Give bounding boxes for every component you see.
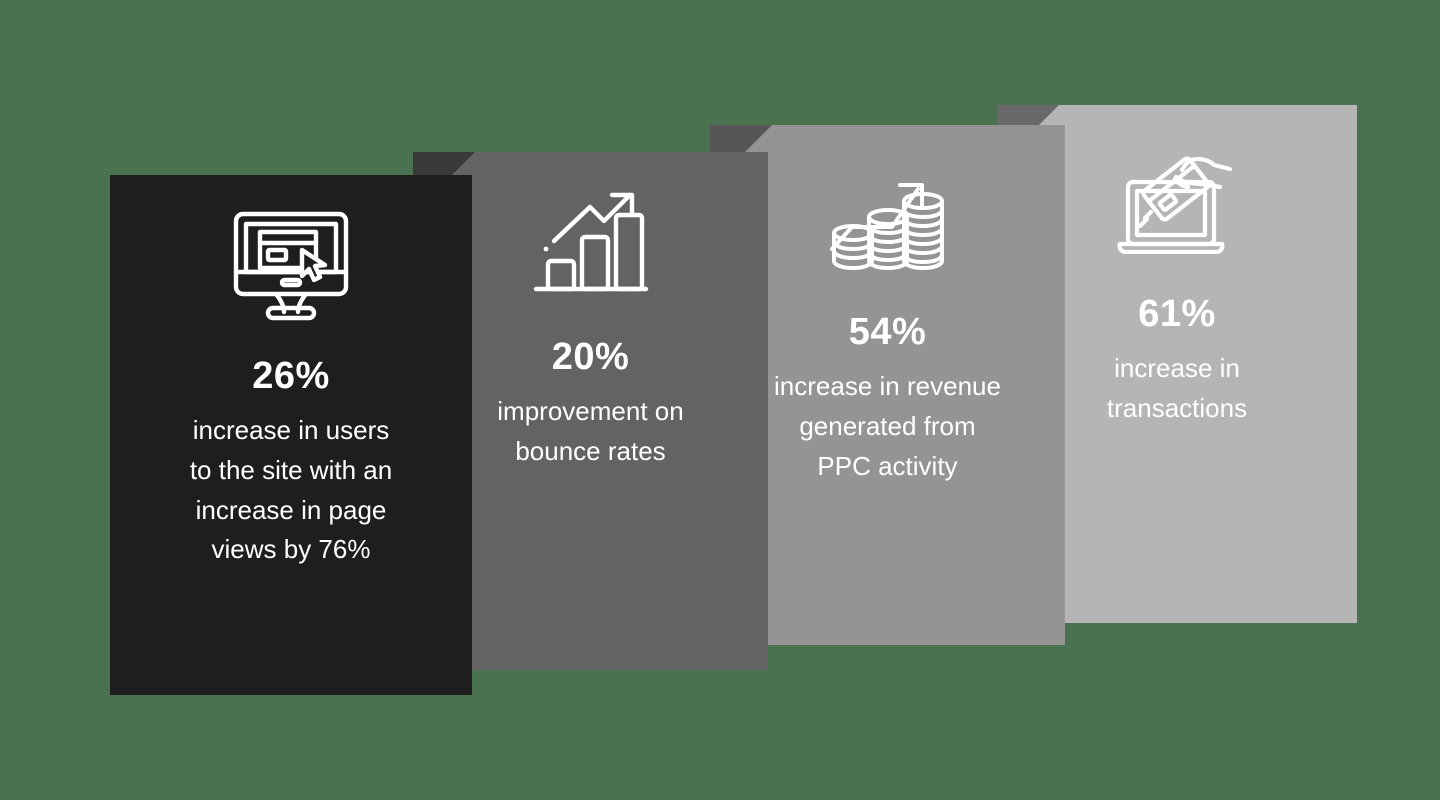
stat-value: 61% bbox=[1138, 295, 1216, 333]
stat-value: 20% bbox=[552, 338, 630, 376]
stat-description: increase in transactions bbox=[1089, 349, 1265, 429]
infographic-stats-panel: 61% increase in transactions bbox=[0, 0, 1440, 800]
stat-description: increase in users to the site with an in… bbox=[172, 411, 410, 570]
stat-value: 26% bbox=[252, 357, 330, 395]
stat-card-users[interactable]: 26% increase in users to the site with a… bbox=[110, 175, 472, 695]
stat-description: improvement on bounce rates bbox=[479, 392, 701, 472]
desktop-monitor-cursor-icon bbox=[110, 175, 472, 357]
stat-value: 54% bbox=[849, 313, 927, 351]
stat-description: increase in revenue generated from PPC a… bbox=[756, 367, 1019, 486]
